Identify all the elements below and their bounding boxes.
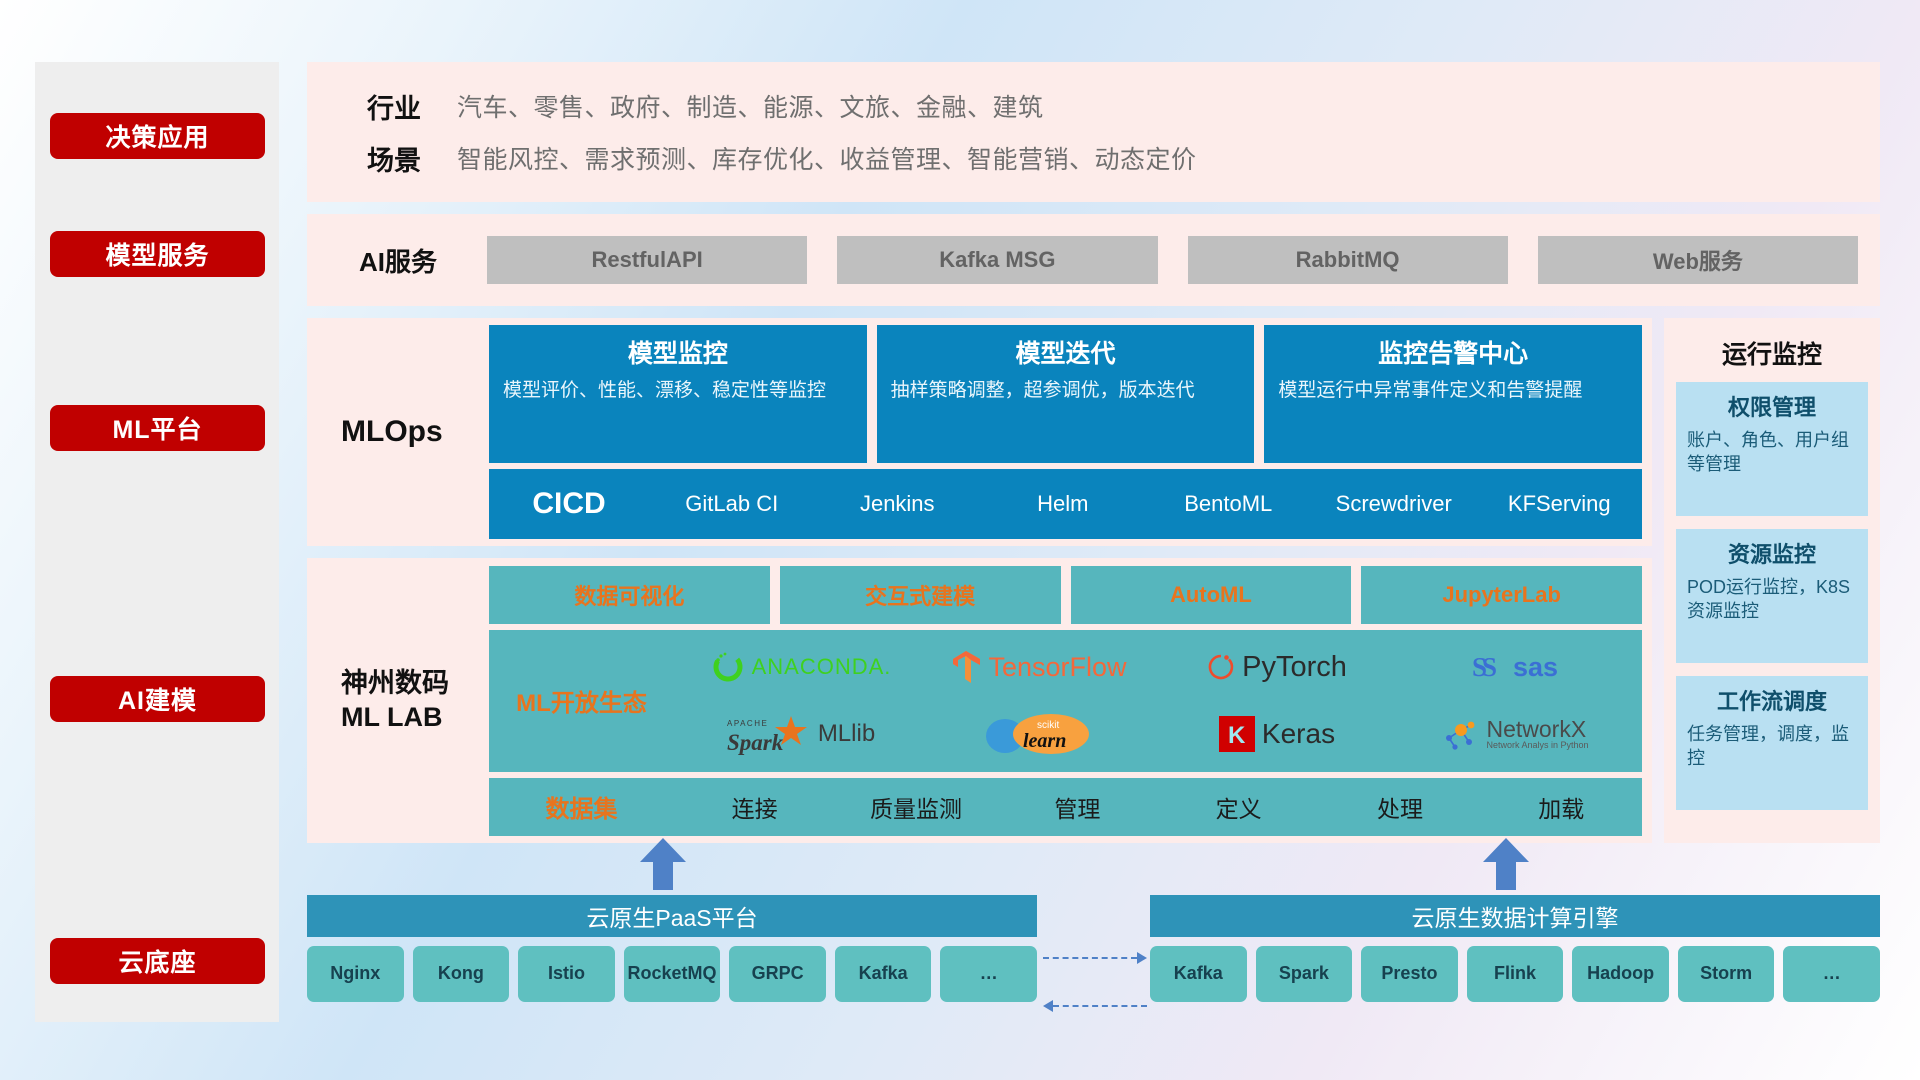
logo-tensorflow-text: TensorFlow — [988, 652, 1126, 683]
cloud-base-paas: 云原生PaaS平台 Nginx Kong Istio RocketMQ GRPC… — [307, 895, 1037, 1005]
cicd-item-jenkins[interactable]: Jenkins — [815, 492, 981, 515]
logo-keras-text: Keras — [1262, 718, 1335, 750]
cloud-base-data-engine: 云原生数据计算引擎 Kafka Spark Presto Flink Hadoo… — [1150, 895, 1880, 1005]
monitoring-card-desc: 账户、角色、用户组等管理 — [1687, 428, 1857, 477]
base-tag-kong[interactable]: Kong — [413, 946, 510, 1002]
logo-networkx-text: NetworkX — [1486, 718, 1588, 741]
ml-lab-label-line1: 神州数码 — [341, 667, 489, 701]
dashed-arrow-left-icon — [1043, 1000, 1147, 1012]
monitoring-card-desc: 任务管理，调度，监控 — [1687, 722, 1857, 771]
base-tag-nginx[interactable]: Nginx — [307, 946, 404, 1002]
base-tag-more[interactable]: … — [1783, 946, 1880, 1002]
dataset-item-load[interactable]: 加载 — [1481, 790, 1642, 824]
mlops-cards: 模型监控 模型评价、性能、漂移、稳定性等监控 模型迭代 抽样策略调整，超参调优，… — [489, 325, 1642, 463]
apache-spark-icon: APACHE Spark — [727, 712, 811, 756]
cicd-item-kfserving[interactable]: KFServing — [1477, 492, 1643, 515]
ai-service-items: RestfulAPI Kafka MSG RabbitMQ Web服务 — [487, 236, 1880, 284]
base-tag-presto[interactable]: Presto — [1361, 946, 1458, 1002]
svg-text:learn: learn — [1023, 730, 1066, 752]
cicd-item-gitlab-ci[interactable]: GitLab CI — [649, 492, 815, 515]
base-tag-kafka[interactable]: Kafka — [835, 946, 932, 1002]
logo-sas-text: sas — [1513, 652, 1558, 683]
stage-chip-label: 决策应用 — [105, 118, 209, 154]
logo-tensorflow: TensorFlow — [951, 650, 1126, 684]
dashed-arrow-right-icon — [1043, 952, 1147, 964]
ai-service-item-label: Kafka MSG — [939, 247, 1055, 273]
dataset-bar: 数据集 连接 质量监测 管理 定义 处理 加载 — [489, 778, 1642, 836]
mlops-card-title: 模型迭代 — [891, 334, 1241, 370]
up-arrow-paas-icon — [640, 838, 686, 890]
ai-service-label: AI服务 — [337, 242, 487, 279]
svg-text:APACHE: APACHE — [727, 719, 768, 728]
anaconda-icon — [711, 650, 745, 684]
base-tag-flink[interactable]: Flink — [1467, 946, 1564, 1002]
svg-text:S: S — [1482, 652, 1497, 682]
monitoring-title: 运行监控 — [1676, 328, 1868, 382]
logo-scikit-learn: scikit learn — [985, 711, 1093, 757]
logo-pytorch: PyTorch — [1207, 651, 1347, 684]
scenario-list: 智能风控、需求预测、库存优化、收益管理、智能营销、动态定价 — [457, 140, 1197, 176]
logo-sas: S S sas — [1472, 651, 1558, 683]
mlops-card-alert-center[interactable]: 监控告警中心 模型运行中异常事件定义和告警提醒 — [1264, 325, 1642, 463]
logo-anaconda: ANACONDA. — [711, 650, 892, 684]
cicd-items: GitLab CI Jenkins Helm BentoML Screwdriv… — [649, 492, 1642, 515]
tensorflow-icon — [951, 650, 981, 684]
dataset-title: 数据集 — [489, 789, 674, 824]
ml-lab-tab-interactive-modeling[interactable]: 交互式建模 — [780, 566, 1061, 624]
dataset-items: 连接 质量监测 管理 定义 处理 加载 — [674, 790, 1642, 824]
ai-service-item-restfulapi[interactable]: RestfulAPI — [487, 236, 807, 284]
stage-chip-label: 云底座 — [118, 943, 196, 979]
decision-apps-band: 行业 汽车、零售、政府、制造、能源、文旅、金融、建筑 场景 智能风控、需求预测、… — [307, 62, 1880, 202]
monitoring-card-permissions[interactable]: 权限管理 账户、角色、用户组等管理 — [1676, 382, 1868, 516]
scenario-row: 场景 智能风控、需求预测、库存优化、收益管理、智能营销、动态定价 — [337, 132, 1880, 184]
monitoring-card-desc: POD运行监控，K8S资源监控 — [1687, 575, 1857, 624]
ml-lab-tab-automl[interactable]: AutoML — [1071, 566, 1352, 624]
monitoring-card-workflow[interactable]: 工作流调度 任务管理，调度，监控 — [1676, 676, 1868, 810]
mlops-card-desc: 模型运行中异常事件定义和告警提醒 — [1278, 378, 1628, 403]
stage-chip-cloud-base[interactable]: 云底座 — [50, 938, 265, 984]
logo-mllib-text: MLlib — [818, 720, 875, 748]
ml-ecosystem-label: ML开放生态 — [489, 683, 674, 718]
mlops-band: MLOps 模型监控 模型评价、性能、漂移、稳定性等监控 模型迭代 抽样策略调整… — [307, 318, 1652, 546]
base-tag-spark[interactable]: Spark — [1256, 946, 1353, 1002]
scikit-learn-icon: scikit learn — [985, 711, 1093, 757]
ai-service-band: AI服务 RestfulAPI Kafka MSG RabbitMQ Web服务 — [307, 214, 1880, 306]
networkx-icon — [1441, 716, 1479, 752]
dataset-item-connect[interactable]: 连接 — [674, 790, 835, 824]
dataset-item-quality[interactable]: 质量监测 — [835, 790, 996, 824]
scenario-label: 场景 — [337, 139, 457, 178]
mlops-card-model-iteration[interactable]: 模型迭代 抽样策略调整，超参调优，版本迭代 — [877, 325, 1255, 463]
ml-ecosystem-logos: ANACONDA. TensorFlow — [674, 630, 1642, 772]
svg-text:Spark: Spark — [727, 730, 784, 755]
ml-ecosystem-panel: ML开放生态 ANACONDA. — [489, 630, 1642, 772]
ai-service-item-rabbitmq[interactable]: RabbitMQ — [1188, 236, 1508, 284]
dataset-item-process[interactable]: 处理 — [1319, 790, 1480, 824]
stage-chip-label: ML平台 — [112, 410, 202, 446]
dataset-item-manage[interactable]: 管理 — [997, 790, 1158, 824]
stage-chip-model-service[interactable]: 模型服务 — [50, 231, 265, 277]
pytorch-icon — [1207, 651, 1235, 683]
logo-spark-mllib: APACHE Spark MLlib — [727, 712, 875, 756]
ml-lab-label-line2: ML LAB — [341, 701, 489, 735]
mlops-card-title: 监控告警中心 — [1278, 334, 1628, 370]
mlops-label: MLOps — [329, 415, 489, 449]
ai-service-item-label: RabbitMQ — [1296, 247, 1400, 273]
base-tag-more[interactable]: … — [940, 946, 1037, 1002]
ai-service-item-label: Web服务 — [1653, 244, 1743, 276]
cloud-base-data-engine-tags: Kafka Spark Presto Flink Hadoop Storm … — [1150, 946, 1880, 1002]
cloud-base-data-engine-title: 云原生数据计算引擎 — [1150, 895, 1880, 937]
mlops-card-title: 模型监控 — [503, 334, 853, 370]
industry-list: 汽车、零售、政府、制造、能源、文旅、金融、建筑 — [457, 88, 1044, 124]
stage-chip-ai-modeling[interactable]: AI建模 — [50, 676, 265, 722]
mlops-content: 模型监控 模型评价、性能、漂移、稳定性等监控 模型迭代 抽样策略调整，超参调优，… — [489, 325, 1652, 539]
mlops-card-desc: 模型评价、性能、漂移、稳定性等监控 — [503, 378, 853, 403]
cicd-item-bentoml[interactable]: BentoML — [1146, 492, 1312, 515]
dataset-item-define[interactable]: 定义 — [1158, 790, 1319, 824]
stage-chip-label: 模型服务 — [105, 236, 209, 272]
ai-service-item-kafka-msg[interactable]: Kafka MSG — [837, 236, 1157, 284]
base-tag-kafka[interactable]: Kafka — [1150, 946, 1247, 1002]
industry-label: 行业 — [337, 87, 457, 126]
cicd-item-helm[interactable]: Helm — [980, 492, 1146, 515]
mlops-card-model-monitoring[interactable]: 模型监控 模型评价、性能、漂移、稳定性等监控 — [489, 325, 867, 463]
stage-rail — [35, 62, 279, 1022]
cloud-base-paas-title: 云原生PaaS平台 — [307, 895, 1037, 937]
monitoring-card-title: 工作流调度 — [1687, 684, 1857, 716]
base-tag-storm[interactable]: Storm — [1678, 946, 1775, 1002]
up-arrow-data-engine-icon — [1483, 838, 1529, 890]
monitoring-card-title: 权限管理 — [1687, 390, 1857, 422]
svg-text:K: K — [1228, 722, 1246, 749]
ml-lab-label: 神州数码 ML LAB — [329, 667, 489, 735]
stage-chip-decision-apps[interactable]: 决策应用 — [50, 113, 265, 159]
ml-lab-tab-data-visualization[interactable]: 数据可视化 — [489, 566, 770, 624]
cicd-title: CICD — [489, 487, 649, 521]
monitoring-column: 运行监控 权限管理 账户、角色、用户组等管理 资源监控 POD运行监控，K8S资… — [1664, 318, 1880, 843]
ai-service-item-web[interactable]: Web服务 — [1538, 236, 1858, 284]
cloud-base-paas-tags: Nginx Kong Istio RocketMQ GRPC Kafka … — [307, 946, 1037, 1002]
sas-icon: S S — [1472, 651, 1506, 683]
ml-lab-tab-jupyterlab[interactable]: JupyterLab — [1361, 566, 1642, 624]
base-tag-hadoop[interactable]: Hadoop — [1572, 946, 1669, 1002]
keras-icon: K — [1219, 716, 1255, 752]
logo-networkx: NetworkX Network Analys in Python — [1441, 716, 1588, 752]
logo-anaconda-text: ANACONDA. — [752, 654, 892, 680]
cicd-bar: CICD GitLab CI Jenkins Helm BentoML Scre… — [489, 469, 1642, 539]
stage-chip-label: AI建模 — [118, 681, 197, 717]
architecture-diagram: 决策应用 模型服务 ML平台 AI建模 云底座 行业 汽车、零售、政府、制造、能… — [0, 0, 1920, 1080]
base-tag-istio[interactable]: Istio — [518, 946, 615, 1002]
monitoring-card-title: 资源监控 — [1687, 537, 1857, 569]
logo-pytorch-text: PyTorch — [1242, 651, 1347, 684]
cicd-item-screwdriver[interactable]: Screwdriver — [1311, 492, 1477, 515]
ai-service-item-label: RestfulAPI — [592, 247, 703, 273]
logo-networkx-subtext: Network Analys in Python — [1486, 741, 1588, 750]
industry-row: 行业 汽车、零售、政府、制造、能源、文旅、金融、建筑 — [337, 80, 1880, 132]
logo-keras: K Keras — [1219, 716, 1335, 752]
base-tag-rocketmq[interactable]: RocketMQ — [624, 946, 721, 1002]
base-tag-grpc[interactable]: GRPC — [729, 946, 826, 1002]
stage-chip-ml-platform[interactable]: ML平台 — [50, 405, 265, 451]
ml-lab-band: 神州数码 ML LAB 数据可视化 交互式建模 AutoML JupyterLa… — [307, 558, 1652, 843]
ml-lab-content: 数据可视化 交互式建模 AutoML JupyterLab ML开放生态 — [489, 566, 1652, 836]
ml-lab-tabs: 数据可视化 交互式建模 AutoML JupyterLab — [489, 566, 1642, 624]
monitoring-card-resources[interactable]: 资源监控 POD运行监控，K8S资源监控 — [1676, 529, 1868, 663]
mlops-card-desc: 抽样策略调整，超参调优，版本迭代 — [891, 378, 1241, 403]
